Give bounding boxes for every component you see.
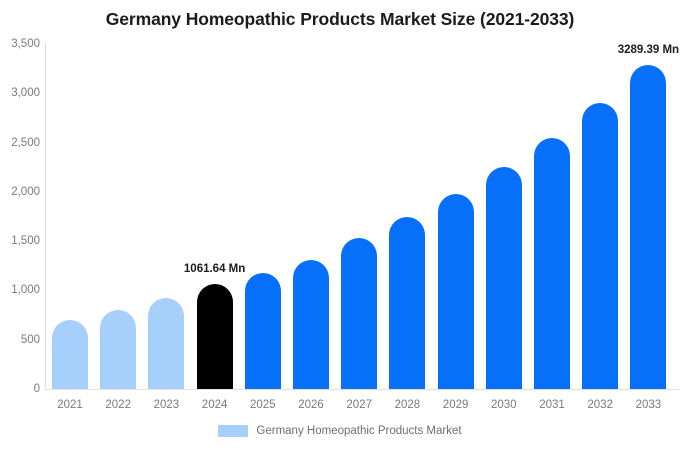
x-tick-label-2032: 2032 <box>587 399 613 411</box>
x-tick-label-2030: 2030 <box>491 399 517 411</box>
bar-2029[interactable] <box>438 194 474 389</box>
x-tick-label-2028: 2028 <box>395 399 421 411</box>
x-tick-label-2021: 2021 <box>57 399 83 411</box>
y-tick-label: 2,000 <box>0 186 40 198</box>
bar-2024[interactable] <box>197 284 233 389</box>
y-axis-tick-labels: 05001,0001,5002,0002,5003,0003,500 <box>0 0 40 450</box>
bar-2031[interactable] <box>534 138 570 389</box>
y-tick-label: 3,500 <box>0 38 40 50</box>
bar-2030[interactable] <box>486 167 522 389</box>
x-tick-label-2033: 2033 <box>636 399 662 411</box>
bar-2021[interactable] <box>52 320 88 389</box>
x-tick-label-2029: 2029 <box>443 399 469 411</box>
x-tick-label-2024: 2024 <box>202 399 228 411</box>
data-label-2033: 3289.39 Mn <box>618 44 679 56</box>
x-tick-label-2027: 2027 <box>346 399 372 411</box>
data-label-2024: 1061.64 Mn <box>184 263 245 275</box>
bar-2022[interactable] <box>100 310 136 389</box>
y-tick-label: 3,000 <box>0 87 40 99</box>
bar-2023[interactable] <box>148 298 184 389</box>
x-tick-label-2022: 2022 <box>105 399 131 411</box>
y-tick-label: 2,500 <box>0 137 40 149</box>
y-tick-label: 1,000 <box>0 284 40 296</box>
y-tick-label: 500 <box>0 334 40 346</box>
bar-2025[interactable] <box>245 273 281 389</box>
chart-legend: Germany Homeopathic Products Market <box>0 425 680 437</box>
x-tick-label-2026: 2026 <box>298 399 324 411</box>
x-tick-label-2023: 2023 <box>154 399 180 411</box>
y-tick-label: 1,500 <box>0 235 40 247</box>
y-tick-label: 0 <box>0 383 40 395</box>
bar-2027[interactable] <box>341 238 377 389</box>
bar-2028[interactable] <box>389 217 425 389</box>
legend-label-germany-homeopathic-products-market: Germany Homeopathic Products Market <box>256 425 461 437</box>
bar-2033[interactable] <box>630 65 666 389</box>
chart-container: Germany Homeopathic Products Market Size… <box>0 0 680 450</box>
x-tick-label-2025: 2025 <box>250 399 276 411</box>
bar-2026[interactable] <box>293 260 329 389</box>
x-tick-label-2031: 2031 <box>539 399 565 411</box>
chart-title: Germany Homeopathic Products Market Size… <box>0 9 680 30</box>
legend-swatch-germany-homeopathic-products-market <box>218 425 248 437</box>
x-axis-line <box>45 389 680 390</box>
plot-area <box>45 44 680 389</box>
bar-2032[interactable] <box>582 103 618 389</box>
